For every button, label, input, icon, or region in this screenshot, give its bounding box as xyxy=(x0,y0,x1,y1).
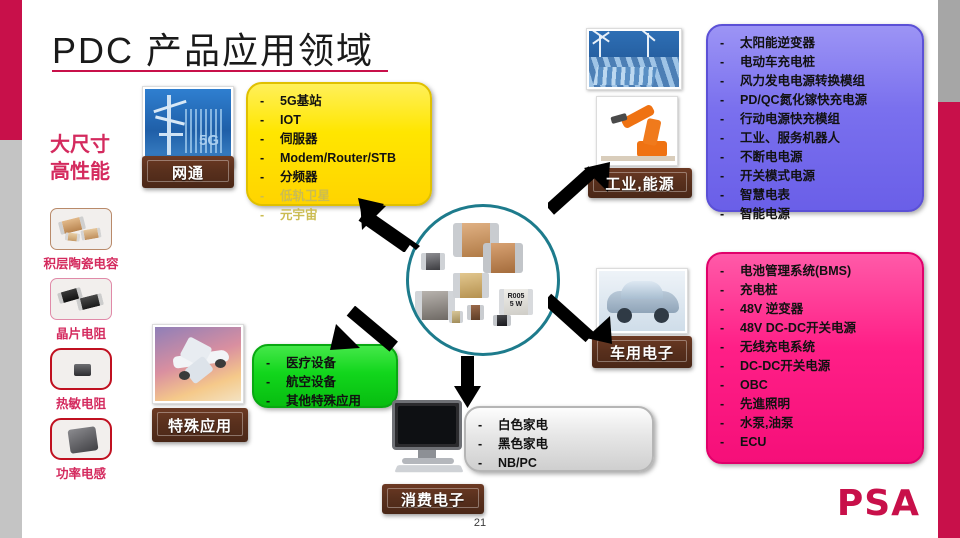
airplane-photo xyxy=(152,324,244,404)
item-text: ECU xyxy=(740,433,766,452)
item-text: 智慧电表 xyxy=(740,186,790,205)
item-text: 充电桩 xyxy=(740,281,778,300)
product-ntc-thermistor[interactable]: 热敏电阻 xyxy=(26,348,136,412)
product-label: 积层陶瓷电容 xyxy=(26,253,136,272)
arrow-to-auto xyxy=(548,288,618,350)
list-item: -太阳能逆变器 xyxy=(720,34,912,53)
list-item: -白色家电 xyxy=(478,416,642,435)
list-item: -伺服器 xyxy=(260,130,420,149)
item-text: 48V 逆变器 xyxy=(740,300,803,319)
list-item: -水泵,油泵 xyxy=(720,414,912,433)
bullet-dash: - xyxy=(720,395,740,414)
bullet-dash: - xyxy=(720,205,740,224)
list-item: -48V DC-DC开关电源 xyxy=(720,319,912,338)
product-chip-resistor[interactable]: 晶片电阻 xyxy=(26,278,136,342)
list-item: -电动车充电桩 xyxy=(720,53,912,72)
item-text: 黑色家电 xyxy=(498,435,548,454)
list-item: -IOT xyxy=(260,111,420,130)
product-mlcc-capacitor[interactable]: 积层陶瓷电容 xyxy=(26,208,136,272)
bullet-dash: - xyxy=(720,319,740,338)
industry-list: -太阳能逆变器 -电动车充电桩 -风力发电电源转换模组 -PD/QC氮化镓快充电… xyxy=(720,34,912,224)
mlcc-capacitor-icon xyxy=(50,208,112,250)
bullet-dash: - xyxy=(720,91,740,110)
item-text: 白色家电 xyxy=(498,416,548,435)
performance-heading: 大尺寸 高性能 xyxy=(50,132,110,186)
bullet-dash: - xyxy=(720,414,740,433)
bullet-dash: - xyxy=(260,92,280,111)
performance-heading-line1: 大尺寸 xyxy=(50,132,110,159)
plinth-label-text: 工业,能源 xyxy=(605,173,674,194)
item-text: Modem/Router/STB xyxy=(280,149,396,168)
list-item: -行动电源快充模组 xyxy=(720,110,912,129)
item-text: 无线充电系统 xyxy=(740,338,815,357)
title-underline xyxy=(52,70,388,72)
left-accent-bar-crimson xyxy=(0,0,22,140)
list-item: -NB/PC xyxy=(478,454,642,473)
item-text: 电池管理系统(BMS) xyxy=(740,262,851,281)
item-text: 智能电源 xyxy=(740,205,790,224)
plinth-label-text: 网通 xyxy=(172,162,204,183)
item-text: 行动电源快充模组 xyxy=(740,110,840,129)
plinth-label-text: 特殊应用 xyxy=(168,415,232,436)
item-text: 不断电电源 xyxy=(740,148,803,167)
category-label-special[interactable]: 特殊应用 xyxy=(152,408,248,442)
list-item: -开关模式电源 xyxy=(720,167,912,186)
bullet-dash: - xyxy=(260,111,280,130)
bullet-dash: - xyxy=(720,338,740,357)
bullet-dash: - xyxy=(266,373,286,392)
auto-list: -电池管理系统(BMS) -充电桩 -48V 逆变器 -48V DC-DC开关电… xyxy=(720,262,912,452)
list-item: -PD/QC氮化镓快充电源 xyxy=(720,91,912,110)
bullet-dash: - xyxy=(478,454,498,473)
item-text: 航空设备 xyxy=(286,373,336,392)
psa-logo: PSA xyxy=(837,483,920,524)
slide-canvas: PDC 产品应用领域 大尺寸 高性能 积层陶瓷电容 晶片电阻 热敏电阻 功率电感 xyxy=(0,0,960,538)
list-item: -无线充电系统 xyxy=(720,338,912,357)
list-item: -智能电源 xyxy=(720,205,912,224)
slide-title: PDC 产品应用领域 xyxy=(52,22,374,74)
product-label: 晶片电阻 xyxy=(26,323,136,342)
product-label: 功率电感 xyxy=(26,463,136,482)
list-item: -电池管理系统(BMS) xyxy=(720,262,912,281)
item-text: DC-DC开关电源 xyxy=(740,357,830,376)
list-item: -分频器 xyxy=(260,168,420,187)
item-text: 元宇宙 xyxy=(280,206,318,225)
special-list: -医疗设备 -航空设备 -其他特殊应用 xyxy=(266,354,386,411)
list-item: -工业、服务机器人 xyxy=(720,129,912,148)
callout-auto: -电池管理系统(BMS) -充电桩 -48V 逆变器 -48V DC-DC开关电… xyxy=(706,252,924,464)
bullet-dash: - xyxy=(720,376,740,395)
item-text: 太阳能逆变器 xyxy=(740,34,815,53)
list-item: -DC-DC开关电源 xyxy=(720,357,912,376)
bullet-dash: - xyxy=(478,416,498,435)
page-number: 21 xyxy=(474,517,486,529)
item-text: 5G基站 xyxy=(280,92,322,111)
wind-solar-photo xyxy=(586,28,682,90)
item-text: PD/QC氮化镓快充电源 xyxy=(740,91,867,110)
list-item: -航空设备 xyxy=(266,373,386,392)
bullet-dash: - xyxy=(720,167,740,186)
bullet-dash: - xyxy=(478,435,498,454)
item-text: 分频器 xyxy=(280,168,318,187)
bullet-dash: - xyxy=(260,168,280,187)
item-text: 电动车充电桩 xyxy=(740,53,815,72)
list-item: -智慧电表 xyxy=(720,186,912,205)
item-text: 工业、服务机器人 xyxy=(740,129,840,148)
bullet-dash: - xyxy=(720,72,740,91)
bullet-dash: - xyxy=(260,130,280,149)
list-item: -风力发电电源转换模组 xyxy=(720,72,912,91)
chip-resistor-icon xyxy=(50,278,112,320)
bullet-dash: - xyxy=(720,53,740,72)
bullet-dash: - xyxy=(720,110,740,129)
bullet-dash: - xyxy=(720,262,740,281)
bullet-dash: - xyxy=(720,148,740,167)
monitor-pc-photo xyxy=(390,400,470,478)
item-text: 其他特殊应用 xyxy=(286,392,361,411)
bullet-dash: - xyxy=(260,149,280,168)
bullet-dash: - xyxy=(266,392,286,411)
item-text: 伺服器 xyxy=(280,130,318,149)
bullet-dash: - xyxy=(720,433,740,452)
power-inductor-icon xyxy=(50,418,112,460)
arrow-to-special xyxy=(324,306,400,360)
performance-heading-line2: 高性能 xyxy=(50,159,110,186)
robot-arm-photo xyxy=(596,96,678,166)
bullet-dash: - xyxy=(260,187,280,206)
right-accent-bar-gray xyxy=(938,0,960,102)
list-item: -不断电电源 xyxy=(720,148,912,167)
bullet-dash: - xyxy=(720,34,740,53)
bullet-dash: - xyxy=(266,354,286,373)
item-text: 先進照明 xyxy=(740,395,790,414)
item-text: 水泵,油泵 xyxy=(740,414,793,433)
consumer-list: -白色家电 -黑色家电 -NB/PC xyxy=(478,416,642,473)
plinth-label-text: 消费电子 xyxy=(401,489,465,510)
bullet-dash: - xyxy=(720,186,740,205)
item-text: 开关模式电源 xyxy=(740,167,815,186)
item-text: 低轨卫星 xyxy=(280,187,330,206)
right-accent-bar-crimson xyxy=(938,102,960,538)
product-power-inductor[interactable]: 功率电感 xyxy=(26,418,136,482)
arrow-to-netcom xyxy=(352,196,424,252)
item-text: OBC xyxy=(740,376,768,395)
list-item: -OBC xyxy=(720,376,912,395)
callout-netcom: -5G基站 -IOT -伺服器 -Modem/Router/STB -分频器 -… xyxy=(246,82,432,206)
bullet-dash: - xyxy=(260,206,280,225)
item-text: 48V DC-DC开关电源 xyxy=(740,319,856,338)
list-item: -黑色家电 xyxy=(478,435,642,454)
plinth-label-text: 车用电子 xyxy=(610,342,674,363)
callout-consumer: -白色家电 -黑色家电 -NB/PC xyxy=(464,406,654,472)
left-accent-bar-gray xyxy=(0,140,22,538)
item-text: NB/PC xyxy=(498,454,537,473)
list-item: -ECU xyxy=(720,433,912,452)
bullet-dash: - xyxy=(720,129,740,148)
smd-components-hub: R0055 W xyxy=(406,204,560,356)
list-item: -先進照明 xyxy=(720,395,912,414)
bullet-dash: - xyxy=(720,281,740,300)
item-text: 风力发电电源转换模组 xyxy=(740,72,865,91)
product-label: 热敏电阻 xyxy=(26,393,136,412)
list-item: -5G基站 xyxy=(260,92,420,111)
item-text: IOT xyxy=(280,111,301,130)
bullet-dash: - xyxy=(720,300,740,319)
bullet-dash: - xyxy=(720,357,740,376)
list-item: -48V 逆变器 xyxy=(720,300,912,319)
list-item: -其他特殊应用 xyxy=(266,392,386,411)
ntc-thermistor-icon xyxy=(50,348,112,390)
list-item: -Modem/Router/STB xyxy=(260,149,420,168)
category-label-netcom[interactable]: 网通 xyxy=(142,156,234,188)
callout-industry: -太阳能逆变器 -电动车充电桩 -风力发电电源转换模组 -PD/QC氮化镓快充电… xyxy=(706,24,924,212)
category-label-consumer[interactable]: 消费电子 xyxy=(382,484,484,514)
list-item: -充电桩 xyxy=(720,281,912,300)
arrow-to-consumer xyxy=(452,356,488,410)
